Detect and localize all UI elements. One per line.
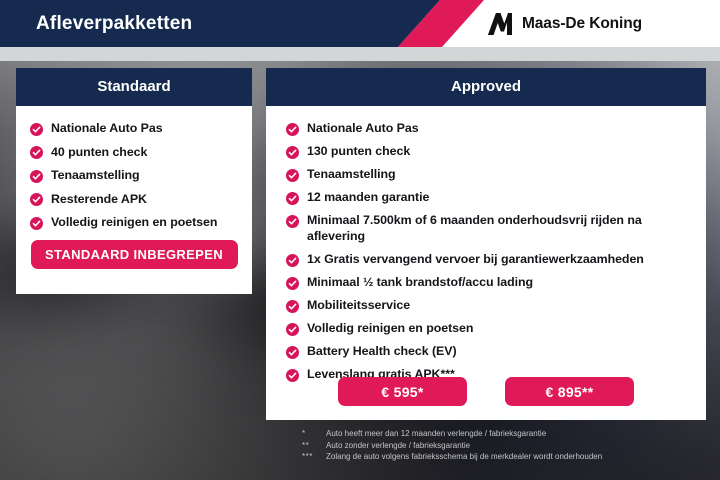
footnote-marker: *** (300, 451, 326, 463)
approved-feature-list: Nationale Auto Pas130 punten checkTenaam… (266, 120, 706, 382)
header-grey-subbar (0, 47, 720, 61)
feature-label: Minimaal 7.500km of 6 maanden onderhouds… (307, 212, 696, 244)
feature-label: 40 punten check (51, 144, 147, 160)
check-circle-icon (286, 146, 299, 159)
feature-list-item: Resterende APK (16, 191, 252, 207)
check-circle-icon (286, 215, 299, 228)
approved-package-card: Approved Nationale Auto Pas130 punten ch… (266, 68, 706, 420)
check-circle-icon (286, 169, 299, 182)
feature-list-item: 130 punten check (266, 143, 706, 159)
check-circle-icon (30, 146, 43, 159)
check-circle-icon (286, 277, 299, 290)
footnote-text: Auto zonder verlengde / fabrieksgarantie (326, 440, 700, 452)
price-button[interactable]: € 895** (505, 377, 634, 406)
footnote-row: *Auto heeft meer dan 12 maanden verlengd… (300, 428, 700, 440)
check-circle-icon (286, 346, 299, 359)
feature-label: Volledig reinigen en poetsen (307, 320, 473, 336)
feature-label: 1x Gratis vervangend vervoer bij garanti… (307, 251, 644, 267)
feature-label: Tenaamstelling (307, 166, 396, 182)
feature-list-item: Tenaamstelling (266, 166, 706, 182)
approved-card-body: Nationale Auto Pas130 punten checkTenaam… (266, 106, 706, 382)
feature-label: 12 maanden garantie (307, 189, 429, 205)
feature-label: Battery Health check (EV) (307, 343, 457, 359)
check-circle-icon (30, 123, 43, 136)
feature-label: Nationale Auto Pas (307, 120, 419, 136)
footnote-marker: * (300, 428, 326, 440)
page-title: Afleverpakketten (36, 0, 192, 47)
feature-label: 130 punten check (307, 143, 410, 159)
brand-lockup: Maas-De Koning (487, 0, 642, 47)
check-circle-icon (286, 123, 299, 136)
standaard-package-card: Standaard Nationale Auto Pas40 punten ch… (16, 68, 252, 294)
feature-list-item: Nationale Auto Pas (266, 120, 706, 136)
feature-list-item: Volledig reinigen en poetsen (266, 320, 706, 336)
footnote-text: Auto heeft meer dan 12 maanden verlengde… (326, 428, 700, 440)
check-circle-icon (286, 300, 299, 313)
standaard-feature-list: Nationale Auto Pas40 punten checkTenaams… (16, 120, 252, 230)
feature-label: Nationale Auto Pas (51, 120, 163, 136)
feature-label: Mobiliteitsservice (307, 297, 410, 313)
standaard-inbegrepen-button[interactable]: STANDAARD INBEGREPEN (31, 240, 238, 269)
feature-label: Resterende APK (51, 191, 147, 207)
check-circle-icon (30, 193, 43, 206)
feature-list-item: Tenaamstelling (16, 167, 252, 183)
approved-price-button-row: € 595*€ 895** (266, 377, 706, 406)
feature-list-item: 40 punten check (16, 144, 252, 160)
feature-list-item: 12 maanden garantie (266, 189, 706, 205)
check-circle-icon (286, 323, 299, 336)
footnote-marker: ** (300, 440, 326, 452)
footnote-row: ***Zolang de auto volgens fabrieksschema… (300, 451, 700, 463)
brand-name: Maas-De Koning (522, 15, 642, 33)
feature-list-item: Volledig reinigen en poetsen (16, 214, 252, 230)
footnote-list: *Auto heeft meer dan 12 maanden verlengd… (300, 428, 700, 463)
feature-list-item: Minimaal ½ tank brandstof/accu lading (266, 274, 706, 290)
page-header: Afleverpakketten Maas-De Koning (0, 0, 720, 47)
price-button[interactable]: € 595* (338, 377, 467, 406)
feature-list-item: Nationale Auto Pas (16, 120, 252, 136)
check-circle-icon (286, 192, 299, 205)
check-circle-icon (30, 217, 43, 230)
footnote-text: Zolang de auto volgens fabrieksschema bi… (326, 451, 700, 463)
footnote-row: **Auto zonder verlengde / fabrieksgarant… (300, 440, 700, 452)
maas-de-koning-m-logo-icon (487, 13, 513, 35)
feature-label: Volledig reinigen en poetsen (51, 214, 217, 230)
feature-list-item: Mobiliteitsservice (266, 297, 706, 313)
feature-label: Tenaamstelling (51, 167, 140, 183)
feature-list-item: Battery Health check (EV) (266, 343, 706, 359)
feature-list-item: 1x Gratis vervangend vervoer bij garanti… (266, 251, 706, 267)
standaard-card-body: Nationale Auto Pas40 punten checkTenaams… (16, 106, 252, 269)
approved-card-caption: Approved (266, 68, 706, 106)
check-circle-icon (30, 170, 43, 183)
standaard-card-caption: Standaard (16, 68, 252, 106)
check-circle-icon (286, 254, 299, 267)
feature-label: Minimaal ½ tank brandstof/accu lading (307, 274, 533, 290)
feature-list-item: Minimaal 7.500km of 6 maanden onderhouds… (266, 212, 706, 244)
